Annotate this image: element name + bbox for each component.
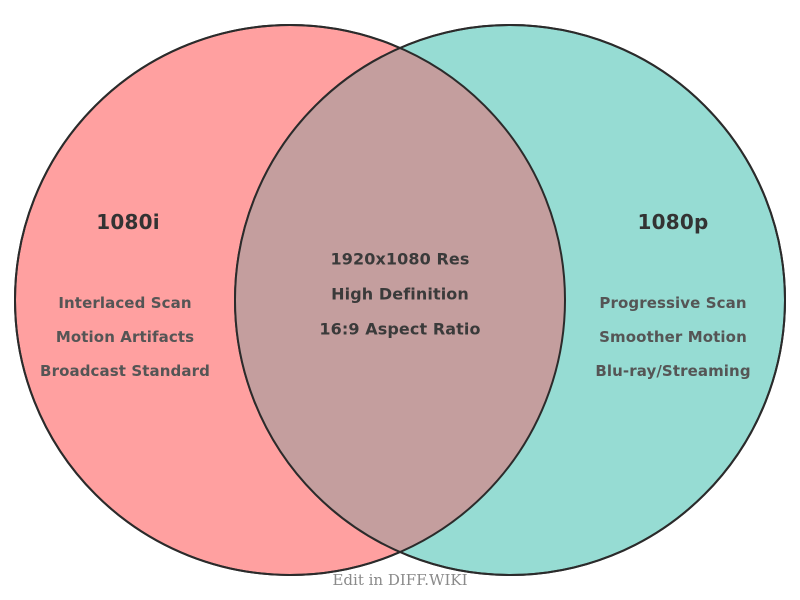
venn-diagram-canvas: 1080i 1080p Interlaced Scan Motion Artif… (0, 0, 800, 600)
venn-shapes (0, 0, 800, 600)
edit-in-diff-wiki-link[interactable]: Edit in DIFF.WIKI (332, 571, 467, 589)
